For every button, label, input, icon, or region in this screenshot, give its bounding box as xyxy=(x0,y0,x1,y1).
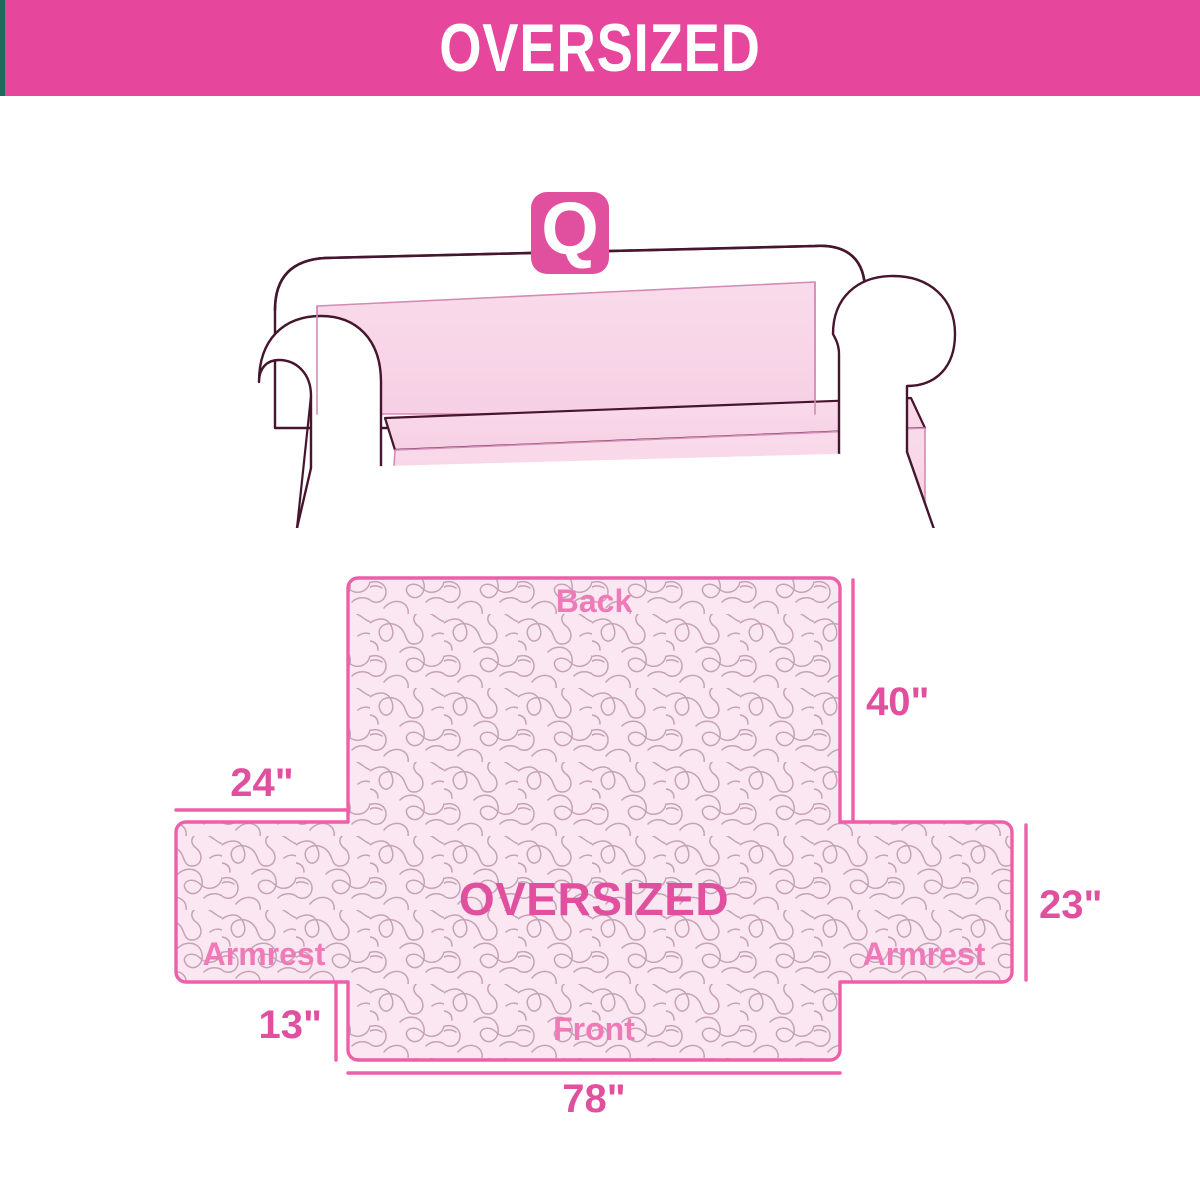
label-back: Back xyxy=(556,583,633,619)
sofa-body xyxy=(259,246,955,528)
dimension-armrest-height: 23" xyxy=(1026,825,1102,980)
sofa-base-skirt xyxy=(297,452,935,528)
sofa-illustration: Q xyxy=(235,128,985,528)
dimension-back-height: 40" xyxy=(853,580,929,822)
dimension-value-24: 24" xyxy=(230,761,293,805)
q-logo-badge: Q xyxy=(531,187,609,274)
page-title: OVERSIZED xyxy=(439,14,761,82)
sofa-back-cushion xyxy=(317,282,815,414)
dimension-total-width: 78" xyxy=(348,1073,840,1121)
header-banner: OVERSIZED xyxy=(0,0,1200,96)
dimension-value-23: 23" xyxy=(1039,883,1102,927)
label-front: Front xyxy=(553,1011,635,1047)
center-size-label: OVERSIZED xyxy=(459,873,729,925)
dimension-value-78: 78" xyxy=(562,1077,625,1121)
sofa-right-armrest xyxy=(833,276,955,478)
label-armrest-right: Armrest xyxy=(863,936,986,972)
flatlay-diagram: Back Front Armrest Armrest OVERSIZED 40"… xyxy=(0,540,1200,1140)
dimension-value-13: 13" xyxy=(259,1003,322,1047)
dimension-front-height: 13" xyxy=(259,983,336,1060)
q-logo-letter: Q xyxy=(541,187,599,270)
slipcover-shape-group xyxy=(176,578,1012,1060)
dimension-armrest-width: 24" xyxy=(176,761,348,810)
header-edge-accent xyxy=(0,0,5,96)
dimension-value-40: 40" xyxy=(866,680,929,724)
label-armrest-left: Armrest xyxy=(203,936,326,972)
slipcover-cross-shape xyxy=(176,578,1012,1060)
